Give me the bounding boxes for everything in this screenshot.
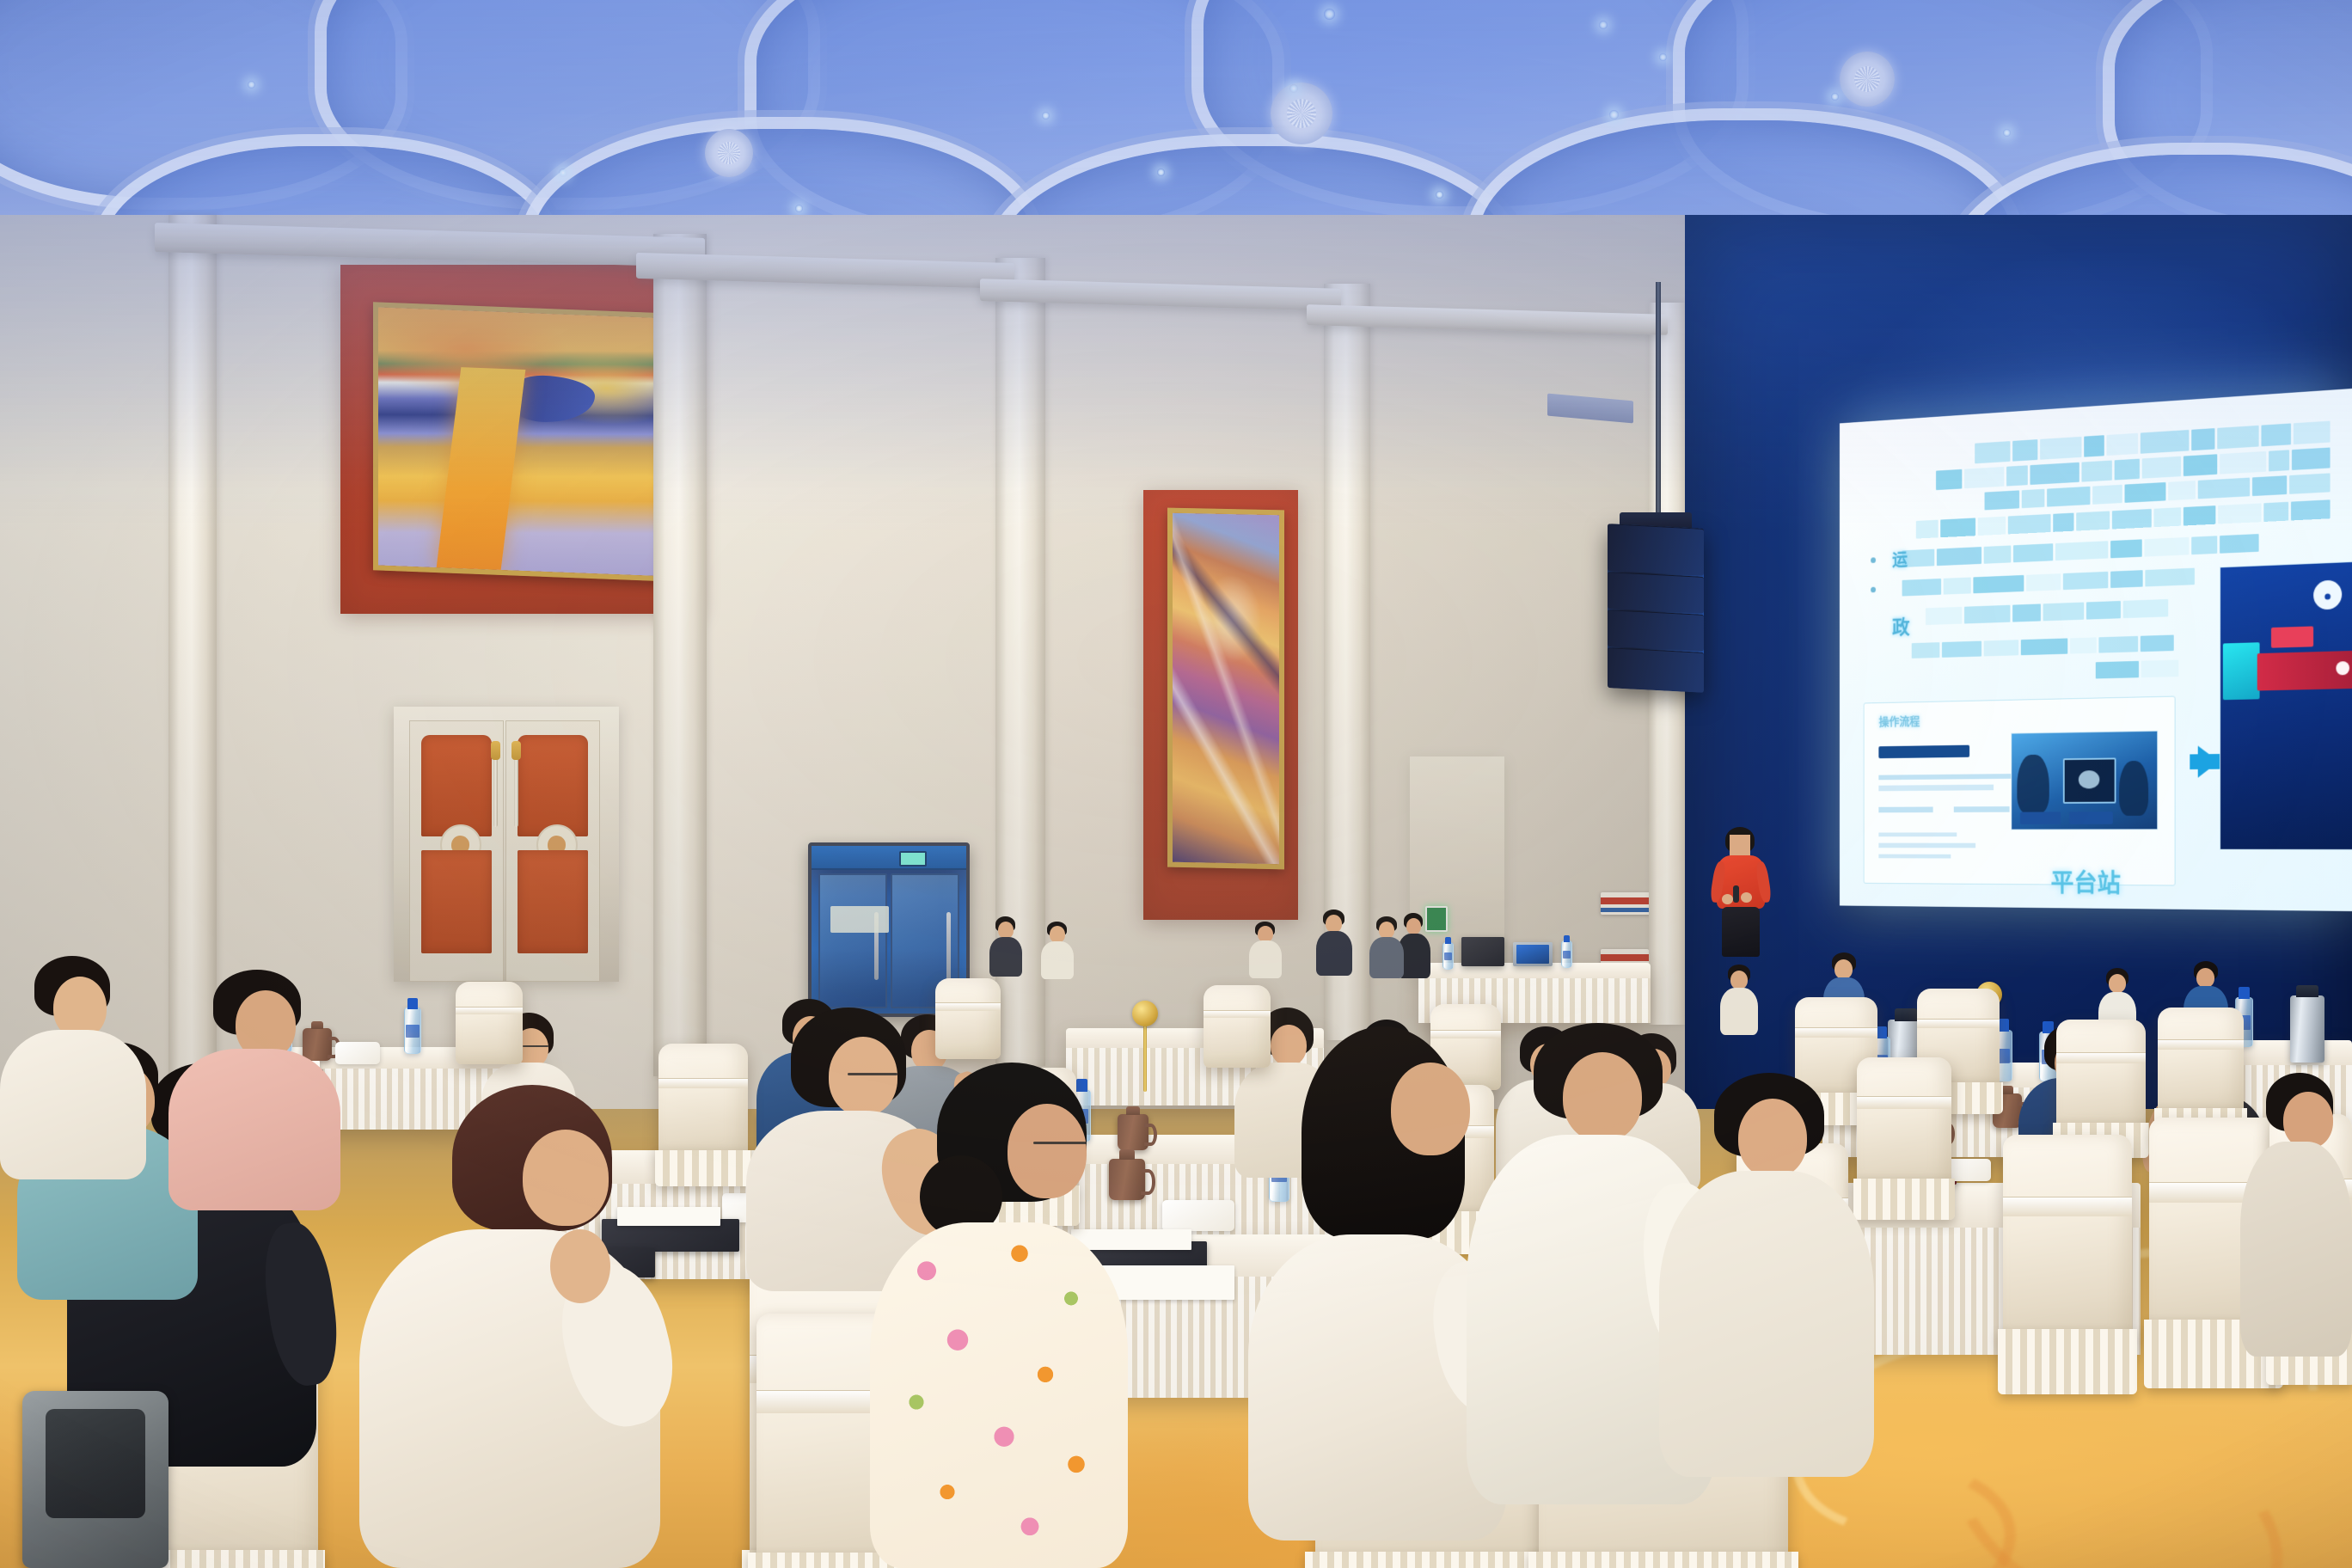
attendee-cream-blouse (0, 956, 146, 1179)
recessed-downlight (1436, 191, 1443, 199)
backpack[interactable] (22, 1391, 168, 1568)
recessed-downlight (559, 168, 567, 177)
recessed-downlight (1599, 21, 1608, 29)
recessed-downlight (1324, 9, 1335, 20)
speaker-suspension-rod (1656, 282, 1661, 514)
redacted-text-row (1916, 499, 2330, 538)
ceiling-rosette (1840, 52, 1895, 107)
recessed-downlight (1609, 110, 1619, 119)
av-laptop (1513, 942, 1553, 966)
conference-hall-photo: 运 政 操作流程 (0, 0, 2352, 1568)
av-monitor (1461, 937, 1504, 966)
recessed-downlight (795, 205, 803, 212)
chair[interactable] (2158, 1008, 2244, 1114)
water-bottle (404, 1008, 421, 1054)
attendee-cream-top-right (1659, 1073, 1874, 1477)
line-array-speaker (1608, 524, 1704, 692)
attendee-right-edge (2240, 1073, 2352, 1357)
slide-meeting-photo (2011, 731, 2158, 830)
slide-heading-glyph-1: 运 (1892, 547, 1908, 572)
eyeglasses (1033, 1142, 1087, 1144)
slide-heading-glyph-2: 政 (1892, 611, 1909, 640)
slide-caption: 平台站 (1840, 861, 2352, 901)
chair[interactable] (658, 1044, 748, 1157)
redacted-text-row (1926, 599, 2168, 625)
slide-flow-arrow (2198, 746, 2219, 778)
thermos-flask (2290, 995, 2324, 1063)
napkin (335, 1042, 380, 1064)
slide-card-title: 操作流程 (1879, 713, 1920, 730)
slide-mobile-mockup (2220, 560, 2352, 850)
recessed-downlight (1042, 112, 1050, 119)
attendee-white-shirt-front (359, 1085, 660, 1568)
attendee-pink-shirt (168, 970, 340, 1210)
recessed-downlight (2003, 129, 2011, 137)
chair[interactable] (456, 982, 523, 1064)
redacted-text-row (2096, 660, 2179, 678)
recessed-downlight (1289, 84, 1298, 93)
recessed-downlight (1157, 168, 1165, 176)
handheld-microphone (1733, 885, 1739, 903)
projection-screen: 运 政 操作流程 (1840, 389, 2352, 911)
slide-screenshot-card: 操作流程 (1864, 695, 2176, 885)
recessed-downlight (248, 81, 255, 89)
redacted-text-row (1902, 534, 2259, 567)
recessed-downlight (1831, 93, 1839, 101)
table-number-stand (1143, 1023, 1147, 1092)
ceiling-rosette (1271, 83, 1332, 144)
presenter (1713, 827, 1768, 956)
recessed-downlight (1659, 53, 1667, 61)
redacted-text-row (1902, 567, 2195, 597)
chair[interactable] (2056, 1020, 2146, 1130)
floral-blouse (870, 1222, 1128, 1568)
redacted-text-row (1911, 634, 2173, 658)
wifi-icon (2313, 579, 2342, 609)
chair[interactable] (935, 978, 1001, 1059)
attendee-floral-blouse (870, 1063, 1128, 1568)
napkin (1162, 1200, 1234, 1231)
ceiling-rosette (705, 129, 753, 177)
chair[interactable] (2003, 1135, 2132, 1341)
